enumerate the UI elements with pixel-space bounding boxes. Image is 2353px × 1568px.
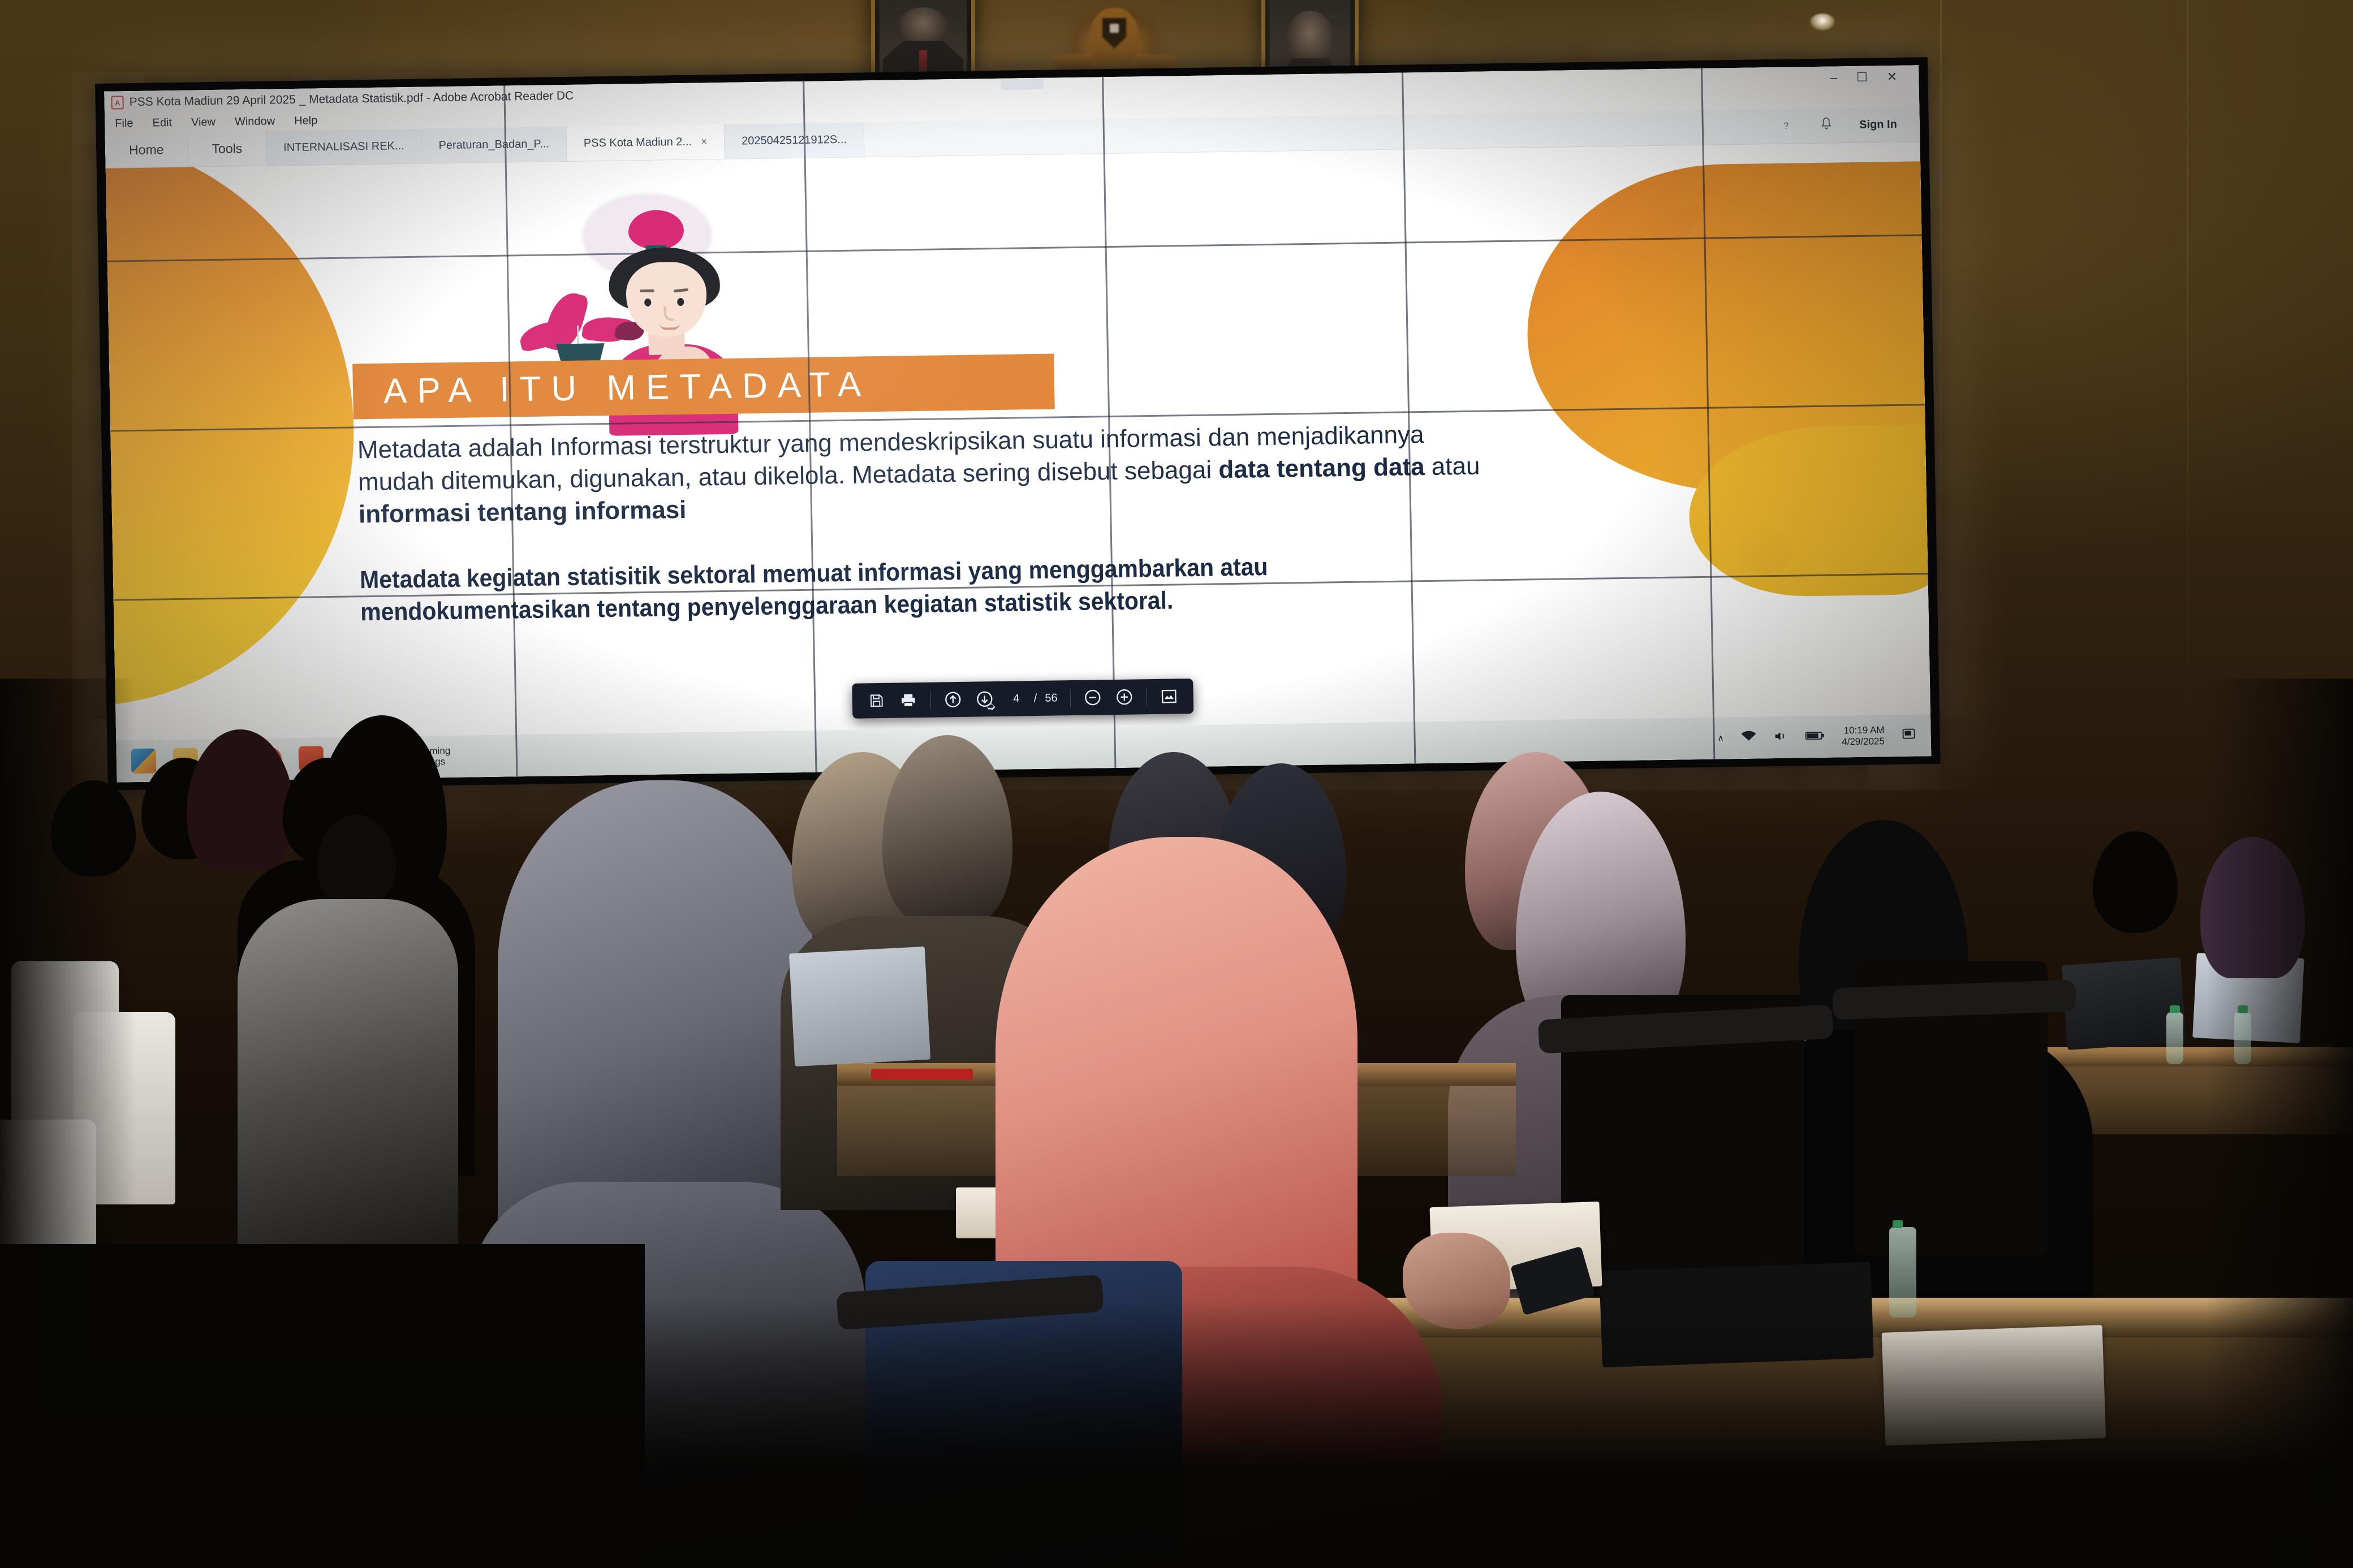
- pdf-floating-toolbar: ➭ 4 / 56: [852, 679, 1193, 719]
- pdf-icon: A: [111, 96, 123, 109]
- file-explorer-icon[interactable]: [173, 748, 199, 773]
- tab-home[interactable]: Home: [105, 132, 188, 168]
- wall-seam: [1940, 0, 1942, 746]
- clock[interactable]: 10:19 AM 4/29/2025: [1842, 724, 1885, 748]
- chrome-canary-icon[interactable]: [257, 746, 282, 772]
- plus-circle-icon[interactable]: [1114, 688, 1134, 707]
- fit-page-icon[interactable]: [1159, 686, 1179, 706]
- earnings-widget-icon: [382, 748, 402, 767]
- paragraph-1-bold-2: informasi tentang informasi: [359, 496, 687, 528]
- video-wall-screen: A PSS Kota Madiun 29 April 2025 _ Metada…: [104, 65, 1931, 782]
- page-separator: /: [1034, 692, 1037, 705]
- chevron-up-icon[interactable]: ∧: [1717, 732, 1724, 744]
- paragraph-1-bold-1: data tentang data: [1218, 453, 1425, 483]
- close-icon[interactable]: ×: [701, 136, 708, 148]
- arrow-up-circle-icon[interactable]: [943, 690, 963, 709]
- help-circle-icon[interactable]: ?: [1778, 119, 1794, 134]
- wall-seam: [2187, 0, 2188, 746]
- tab-bar-right-actions: ? Sign In: [1756, 107, 1920, 144]
- printer-icon[interactable]: [899, 690, 919, 710]
- battery-icon[interactable]: [1805, 730, 1825, 743]
- decorative-orange-blob-left: [106, 142, 359, 709]
- sign-in-button[interactable]: Sign In: [1859, 118, 1897, 132]
- slide-paragraph-2: Metadata kegiatan statisitik sektoral me…: [360, 548, 1466, 629]
- minimize-button[interactable]: –: [1830, 70, 1838, 85]
- page-indicator[interactable]: 4 / 56: [1007, 692, 1058, 705]
- woman-thinking-illustration: [496, 182, 737, 372]
- powerpoint-icon[interactable]: [299, 746, 324, 771]
- presentation-room-scene: A PSS Kota Madiun 29 April 2025 _ Metada…: [0, 0, 2353, 1568]
- speaker-icon[interactable]: [1774, 730, 1789, 744]
- wifi-icon[interactable]: [1741, 731, 1757, 745]
- widget-line-1: Upcoming: [407, 746, 451, 757]
- save-disk-icon[interactable]: [867, 691, 887, 710]
- pdf-page-canvas[interactable]: APA ITU METADATA Metadata adalah Informa…: [106, 142, 1930, 740]
- document-tab-peraturan[interactable]: Peraturan_Badan_P...: [421, 127, 567, 163]
- chrome-icon[interactable]: [215, 747, 240, 772]
- document-tab-label: INTERNALISASI REK...: [283, 140, 404, 154]
- notification-icon[interactable]: [1901, 727, 1916, 744]
- tray-time: 10:19 AM: [1842, 724, 1885, 736]
- maximize-button[interactable]: ☐: [1856, 70, 1868, 85]
- document-tab-label: 20250425121912S...: [742, 133, 847, 148]
- paragraph-1-part-2: atau: [1424, 452, 1480, 481]
- document-tab-label: PSS Kota Madiun 2...: [584, 136, 692, 150]
- earnings-widget[interactable]: Upcoming Earnings: [382, 746, 451, 768]
- system-tray: ∧: [1717, 724, 1916, 749]
- camera-device: [1001, 77, 1044, 90]
- word-document-icon[interactable]: [341, 745, 366, 771]
- total-pages: 56: [1045, 692, 1058, 705]
- ceiling-light: [1810, 14, 1835, 31]
- menu-view[interactable]: View: [191, 115, 216, 129]
- minus-circle-icon[interactable]: [1083, 688, 1102, 707]
- document-tab-label: Peraturan_Badan_P...: [438, 137, 549, 152]
- menu-window[interactable]: Window: [235, 115, 275, 128]
- thought-bubble-icon: [628, 210, 684, 250]
- video-wall-display: A PSS Kota Madiun 29 April 2025 _ Metada…: [95, 57, 1941, 791]
- adobe-acrobat-window: A PSS Kota Madiun 29 April 2025 _ Metada…: [104, 65, 1931, 782]
- menu-file[interactable]: File: [115, 117, 133, 130]
- tab-tools[interactable]: Tools: [188, 131, 267, 167]
- arrow-down-circle-icon[interactable]: ➭: [975, 689, 994, 709]
- photos-icon[interactable]: [131, 749, 157, 774]
- menu-help[interactable]: Help: [294, 114, 318, 128]
- window-controls: – ☐ ✕: [1830, 69, 1912, 85]
- slide-paragraph-1: Metadata adalah Informasi terstruktur ya…: [357, 417, 1490, 531]
- document-tab-20250425[interactable]: 20250425121912S...: [725, 122, 865, 159]
- mouse-cursor-icon: ➭: [986, 701, 996, 712]
- current-page-input[interactable]: 4: [1007, 692, 1026, 705]
- document-tab-internalisasi[interactable]: INTERNALISASI REK...: [266, 129, 422, 166]
- slide-heading-band: APA ITU METADATA: [352, 353, 1055, 419]
- tray-date: 4/29/2025: [1842, 736, 1885, 748]
- document-tab-pss-kota-madiun[interactable]: PSS Kota Madiun 2... ×: [566, 124, 725, 161]
- page-title: APA ITU METADATA: [352, 364, 871, 412]
- menu-edit[interactable]: Edit: [152, 116, 172, 129]
- window-title: PSS Kota Madiun 29 April 2025 _ Metadata…: [129, 89, 574, 109]
- widget-line-2: Earnings: [407, 757, 451, 768]
- bell-icon[interactable]: [1820, 116, 1834, 135]
- close-button[interactable]: ✕: [1887, 70, 1898, 84]
